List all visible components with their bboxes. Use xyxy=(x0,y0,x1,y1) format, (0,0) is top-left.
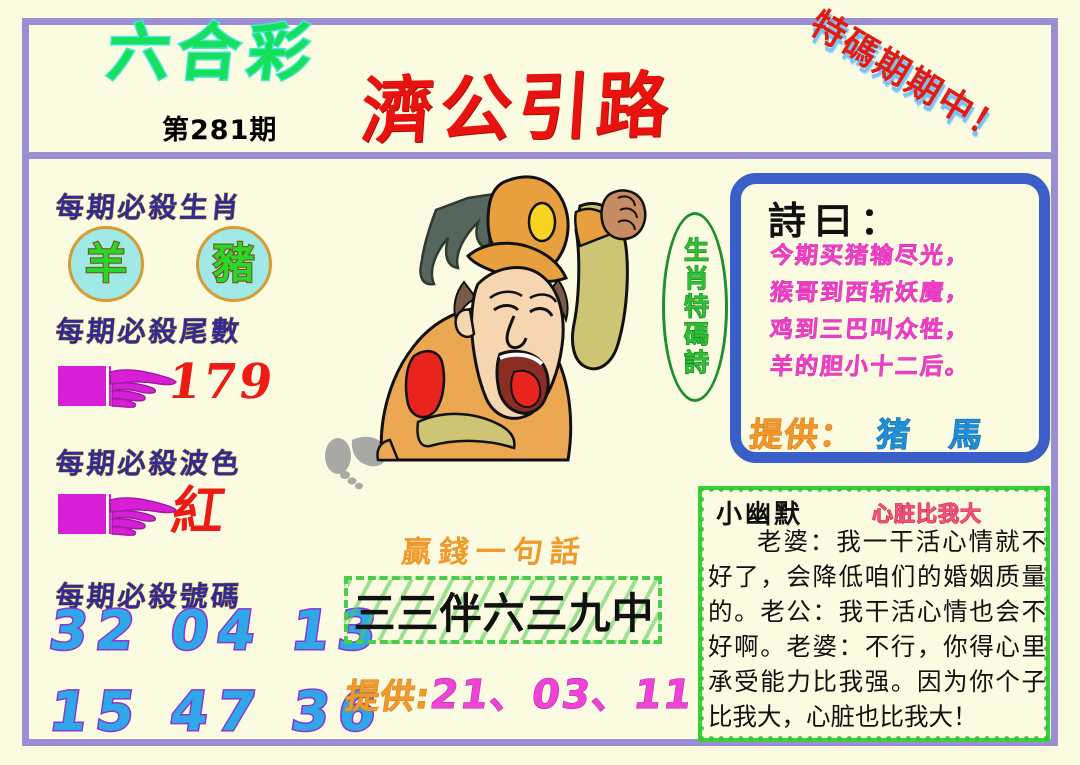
poem-line-3: 鸡到三巴叫众牲， xyxy=(768,312,1031,349)
win-phrase-text: 三三伴六三九中 xyxy=(350,581,658,639)
kill-numbers-row-2: 15 47 36 xyxy=(46,685,389,739)
hat-gem xyxy=(529,203,555,241)
win-supply-label: 提供: xyxy=(343,669,434,718)
zodiac-circles: 羊 豬 xyxy=(60,226,290,308)
wave-color-label: 每期必殺波色 xyxy=(54,442,244,482)
win-phrase-supply: 提供:21、03、11 xyxy=(346,662,694,720)
humor-body: 老婆：我一干活心情就不好了，会降低咱们的婚姻质量的。老公：我干活心情也会不好啊。… xyxy=(708,524,1046,734)
poem-line-4: 羊的胆小十二后。 xyxy=(768,349,1031,386)
tongue xyxy=(511,371,540,407)
kill-numbers-row-1: 32 04 13 xyxy=(46,604,389,658)
zodiac-char-2: 豬 xyxy=(213,243,255,285)
hand-cuff-2 xyxy=(58,494,104,534)
zodiac-circle-1: 羊 xyxy=(68,226,144,302)
zodiac-label: 每期必殺生肖 xyxy=(54,186,244,226)
poster-root: 六合彩 第281期 濟公引路 特碼期期中！ 每期必殺生肖 羊 豬 每期必殺尾數 … xyxy=(0,0,1080,765)
tail-number-value: 179 xyxy=(165,358,278,406)
ear xyxy=(456,310,474,337)
poem-supply-label: 提供： xyxy=(747,408,857,456)
raised-fist xyxy=(601,190,645,239)
wave-color-value: 紅 xyxy=(168,486,229,538)
header-divider xyxy=(22,152,1058,159)
win-phrase-title: 贏錢一句話 xyxy=(400,527,590,571)
brand-title: 六合彩 xyxy=(105,22,322,84)
robe-patch-red xyxy=(406,351,444,417)
poem-title: 詩曰： xyxy=(768,190,906,245)
page-title: 濟公引路 xyxy=(359,69,676,148)
poem-line-2: 猴哥到西斩妖魔， xyxy=(768,275,1031,312)
pointing-hand-icon xyxy=(58,362,176,410)
tail-number-label: 每期必殺尾數 xyxy=(54,310,244,350)
jigong-monk-cartoon xyxy=(318,160,688,510)
hand-glyph-2 xyxy=(108,490,178,538)
poem-lines: 今期买猪输尽光， 猴哥到西斩妖魔， 鸡到三巴叫众牲， 羊的胆小十二后。 xyxy=(770,238,1030,386)
poem-line-1: 今期买猪输尽光， xyxy=(768,238,1031,275)
issue-number: 第281期 xyxy=(162,108,277,147)
win-supply-value: 21、03、11 xyxy=(427,662,698,720)
poem-supply: 提供：猪 馬 xyxy=(750,408,997,456)
poem-side-label: 生肖特碼詩 xyxy=(662,212,728,402)
zodiac-char-1: 羊 xyxy=(85,243,127,285)
footprint-icon xyxy=(325,437,386,489)
zodiac-circle-2: 豬 xyxy=(196,226,272,302)
poem-side-label-text: 生肖特碼詩 xyxy=(683,237,708,377)
hand-cuff xyxy=(58,366,104,406)
poem-supply-value: 猪 馬 xyxy=(874,408,999,456)
pointing-hand-icon-2 xyxy=(58,490,176,538)
